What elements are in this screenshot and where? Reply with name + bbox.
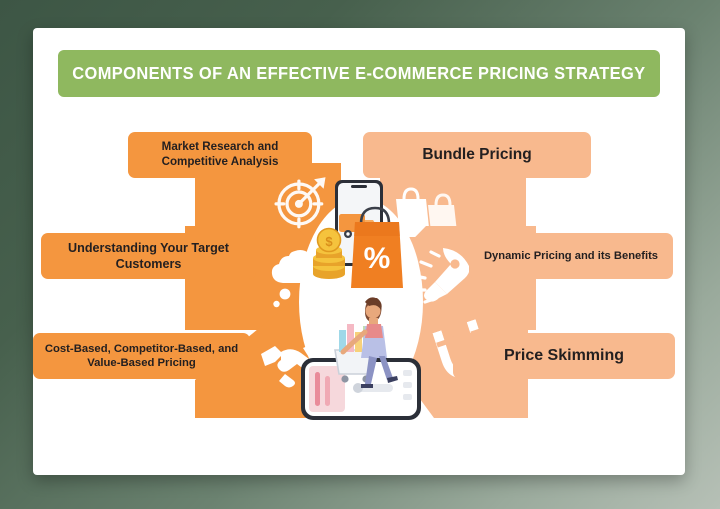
bag-percent-symbol: % <box>364 242 391 275</box>
label-cost-based-pricing[interactable]: Cost-Based, Competitor-Based, and Value-… <box>33 333 250 379</box>
center-illustration: % $ <box>299 162 424 442</box>
coin-stack-icon: $ <box>313 229 345 280</box>
label-market-research[interactable]: Market Research and Competitive Analysis <box>128 132 312 178</box>
page-title: COMPONENTS OF AN EFFECTIVE E-COMMERCE PR… <box>72 63 645 84</box>
label-dynamic-pricing[interactable]: Dynamic Pricing and its Benefits <box>469 233 673 279</box>
slide-card: COMPONENTS OF AN EFFECTIVE E-COMMERCE PR… <box>33 28 685 475</box>
pricing-strategy-diagram: Market Research and Competitive Analysis… <box>33 106 685 475</box>
label-understanding-customers[interactable]: Understanding Your Target Customers <box>41 233 256 279</box>
slide-background: COMPONENTS OF AN EFFECTIVE E-COMMERCE PR… <box>0 0 720 509</box>
svg-text:$: $ <box>325 234 333 249</box>
title-banner: COMPONENTS OF AN EFFECTIVE E-COMMERCE PR… <box>58 50 660 97</box>
label-price-skimming[interactable]: Price Skimming <box>453 333 675 379</box>
